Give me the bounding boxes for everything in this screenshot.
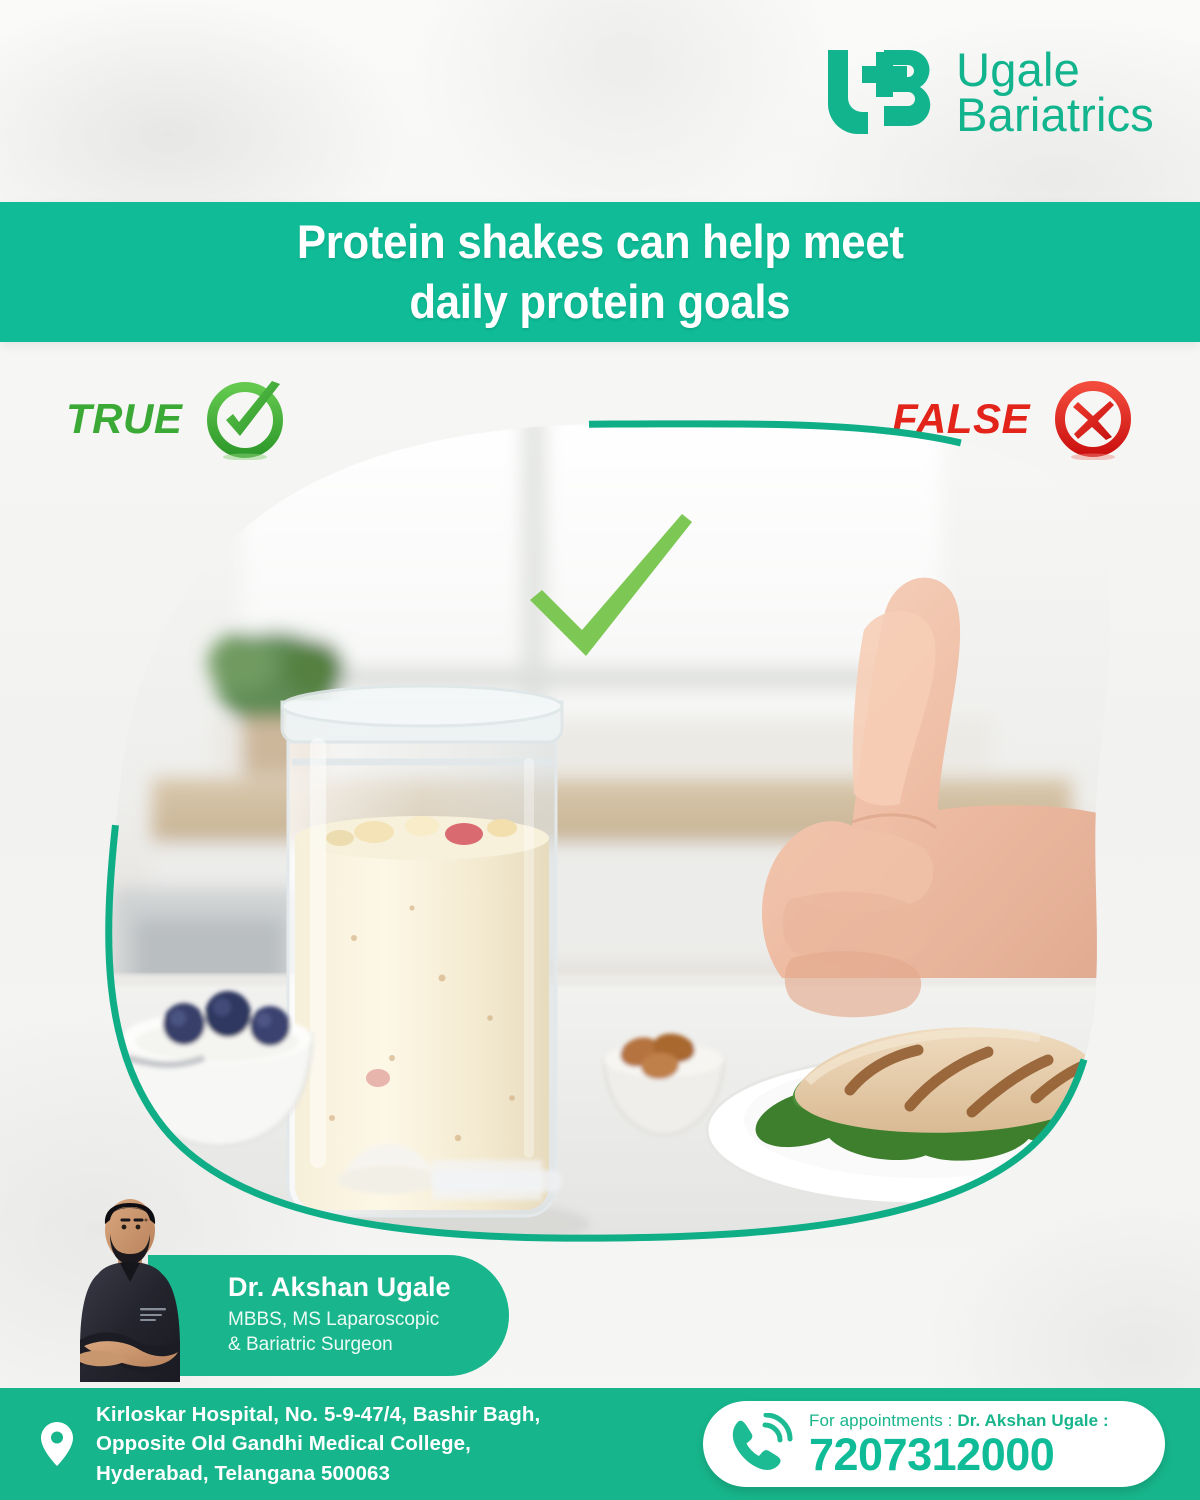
appointment-phone-pill[interactable]: For appointments : Dr. Akshan Ugale : 72… [703, 1401, 1165, 1487]
doctor-credentials-line2: & Bariatric Surgeon [228, 1332, 451, 1357]
u-plus-b-monogram-icon [822, 44, 940, 140]
hero-photo-illustration [92, 418, 1132, 1258]
address-line-1: Kirloskar Hospital, No. 5-9-47/4, Bashir… [96, 1400, 540, 1429]
doctor-portrait [58, 1190, 202, 1394]
brand-name-line2: Bariatrics [956, 92, 1154, 137]
phone-number[interactable]: 7207312000 [809, 1432, 1109, 1477]
headline-banner: Protein shakes can help meet daily prote… [0, 202, 1200, 342]
map-pin-icon [40, 1421, 74, 1467]
brand-wordmark: Ugale Bariatrics [956, 47, 1154, 137]
brand-logo: Ugale Bariatrics [822, 44, 1154, 140]
address-line-2: Opposite Old Gandhi Medical College, [96, 1429, 540, 1458]
headline-line-1: Protein shakes can help meet [297, 212, 904, 272]
headline-line-2: daily protein goals [410, 272, 791, 332]
brand-name-line1: Ugale [956, 47, 1154, 92]
clinic-address: Kirloskar Hospital, No. 5-9-47/4, Bashir… [40, 1400, 540, 1487]
doctor-name: Dr. Akshan Ugale [228, 1272, 451, 1303]
appointment-doctor-name: Dr. Akshan Ugale : [957, 1411, 1108, 1430]
address-lines: Kirloskar Hospital, No. 5-9-47/4, Bashir… [96, 1400, 540, 1487]
appointment-label: For appointments : Dr. Akshan Ugale : [809, 1412, 1109, 1429]
doctor-credentials-line1: MBBS, MS Laparoscopic [228, 1307, 451, 1332]
appointment-text: For appointments : Dr. Akshan Ugale : 72… [809, 1412, 1109, 1477]
doctor-info-card: Dr. Akshan Ugale MBBS, MS Laparoscopic &… [148, 1255, 509, 1376]
hero-photo [92, 418, 1132, 1258]
ringing-phone-icon [725, 1413, 795, 1475]
address-line-3: Hyderabad, Telangana 500063 [96, 1459, 540, 1488]
appointment-label-prefix: For appointments : [809, 1411, 957, 1430]
